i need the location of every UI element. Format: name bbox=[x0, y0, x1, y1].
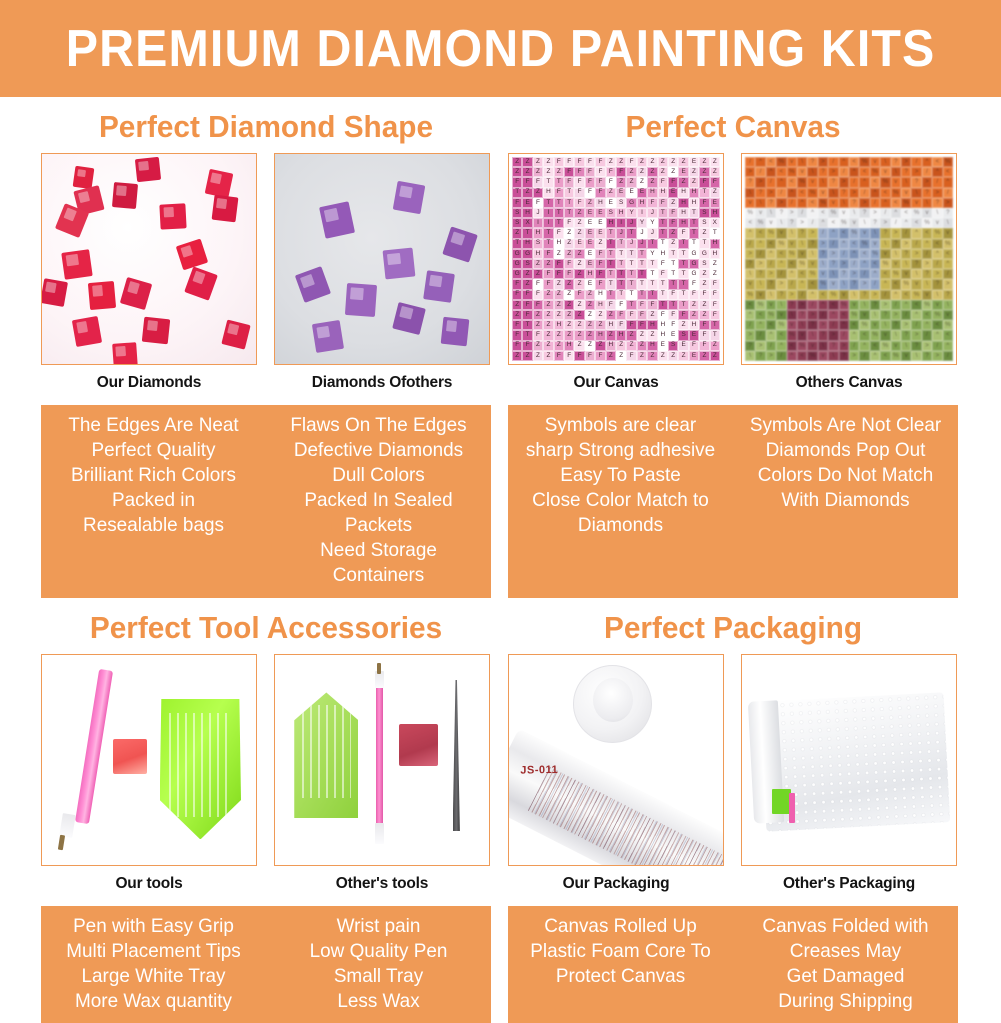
canvas-symbol-cell: J bbox=[626, 218, 636, 228]
canvas-symbol-cell: T bbox=[647, 269, 657, 279]
canvas-symbol-cell: \ bbox=[922, 279, 932, 289]
canvas-symbol-cell: ? bbox=[880, 228, 890, 238]
canvas-symbol-cell: ^ bbox=[870, 351, 880, 361]
canvas-symbol-cell: / bbox=[870, 198, 880, 208]
canvas-symbol-cell: < bbox=[797, 269, 807, 279]
canvas-symbol-cell: X bbox=[710, 218, 720, 228]
canvas-symbol-cell: < bbox=[776, 249, 786, 259]
canvas-symbol-cell: T bbox=[689, 228, 699, 238]
canvas-symbol-cell: J bbox=[626, 239, 636, 249]
canvas-symbol-cell: T bbox=[512, 239, 522, 249]
canvas-symbol-cell: F bbox=[543, 279, 553, 289]
canvas-symbol-cell: < bbox=[870, 259, 880, 269]
canvas-symbol-cell: ^ bbox=[776, 259, 786, 269]
canvas-symbol-cell: \ bbox=[776, 300, 786, 310]
canvas-symbol-cell: % bbox=[787, 249, 797, 259]
canvas-symbol-cell: > bbox=[787, 208, 797, 218]
desc-line: Creases May bbox=[739, 939, 951, 964]
canvas-symbol-cell: T bbox=[626, 249, 636, 259]
canvas-symbol-cell: T bbox=[606, 239, 616, 249]
canvas-symbol-cell: T bbox=[658, 208, 668, 218]
canvas-symbol-cell: > bbox=[839, 177, 849, 187]
desc-line: Easy To Paste bbox=[514, 463, 726, 488]
canvas-symbol-cell: H bbox=[522, 239, 532, 249]
photo-cell-others-canvas: /^<%v\?>/^<%v\?>/^<%>/^<%v\?>/^<%v\?>/^<… bbox=[741, 153, 957, 392]
canvas-symbol-cell: \ bbox=[859, 300, 869, 310]
canvas-symbol-cell: Z bbox=[585, 310, 595, 320]
canvas-symbol-cell: Z bbox=[543, 300, 553, 310]
canvas-symbol-cell: T bbox=[668, 249, 678, 259]
our-tools-image bbox=[42, 655, 256, 865]
canvas-symbol-cell: Z bbox=[585, 198, 595, 208]
canvas-symbol-cell: > bbox=[870, 208, 880, 218]
canvas-symbol-cell: F bbox=[585, 188, 595, 198]
canvas-symbol-cell: Z bbox=[585, 330, 595, 340]
canvas-symbol-cell: < bbox=[818, 290, 828, 300]
canvas-symbol-cell: T bbox=[626, 279, 636, 289]
canvas-symbol-cell: F bbox=[574, 177, 584, 187]
canvas-symbol-cell: Z bbox=[699, 279, 709, 289]
canvas-symbol-cell: ^ bbox=[880, 198, 890, 208]
canvas-symbol-cell: E bbox=[574, 239, 584, 249]
canvas-symbol-cell: > bbox=[776, 279, 786, 289]
canvas-symbol-cell: \ bbox=[891, 330, 901, 340]
canvas-symbol-cell: Z bbox=[647, 351, 657, 361]
canvas-symbol-cell: T bbox=[554, 177, 564, 187]
canvas-symbol-cell: Z bbox=[522, 157, 532, 167]
tube-end-cap-icon bbox=[573, 665, 652, 743]
canvas-symbol-cell: Z bbox=[512, 228, 522, 238]
canvas-symbol-cell: Z bbox=[574, 218, 584, 228]
canvas-symbol-cell: < bbox=[787, 177, 797, 187]
canvas-symbol-cell: T bbox=[543, 239, 553, 249]
canvas-symbol-cell: ? bbox=[807, 320, 817, 330]
canvas-symbol-cell: % bbox=[911, 208, 921, 218]
canvas-symbol-cell: % bbox=[880, 177, 890, 187]
canvas-symbol-cell: \ bbox=[818, 259, 828, 269]
canvas-symbol-cell: F bbox=[512, 320, 522, 330]
desc-col-other-packaging: Canvas Folded withCreases MayGet Damaged… bbox=[736, 914, 954, 1014]
canvas-symbol-cell: ? bbox=[818, 167, 828, 177]
canvas-symbol-cell: F bbox=[554, 228, 564, 238]
canvas-symbol-cell: \ bbox=[828, 351, 838, 361]
section-1-title-wrap: Perfect Diamond Shape bbox=[41, 97, 491, 153]
canvas-symbol-cell: F bbox=[595, 157, 605, 167]
canvas-symbol-cell: T bbox=[710, 320, 720, 330]
canvas-symbol-cell: Z bbox=[678, 177, 688, 187]
canvas-symbol-cell: \ bbox=[818, 341, 828, 351]
canvas-symbol-cell: Z bbox=[574, 259, 584, 269]
canvas-symbol-cell: ^ bbox=[870, 188, 880, 198]
canvas-symbol-cell: F bbox=[595, 188, 605, 198]
photo-cell-our-packaging: JS-011 Our Packaging bbox=[508, 654, 724, 893]
canvas-symbol-cell: S bbox=[512, 218, 522, 228]
canvas-symbol-cell: % bbox=[766, 310, 776, 320]
canvas-symbol-cell: < bbox=[901, 290, 911, 300]
canvas-symbol-cell: E bbox=[689, 157, 699, 167]
canvas-symbol-cell: Z bbox=[637, 341, 647, 351]
canvas-symbol-cell: / bbox=[839, 330, 849, 340]
canvas-symbol-cell: / bbox=[776, 351, 786, 361]
our-canvas-symbol-grid: ZZZZFFFFFZZFZZZZZEZZZZZZZFFFFFFZZZZZEZZZ… bbox=[512, 157, 720, 361]
canvas-symbol-cell: T bbox=[658, 290, 668, 300]
canvas-symbol-cell: H bbox=[678, 218, 688, 228]
canvas-symbol-cell: / bbox=[776, 269, 786, 279]
thin-pink-pen-icon bbox=[376, 684, 384, 831]
canvas-symbol-cell: ^ bbox=[849, 330, 859, 340]
desc-line: Symbols Are Not Clear bbox=[739, 413, 951, 438]
canvas-symbol-cell: < bbox=[776, 330, 786, 340]
canvas-symbol-cell: ^ bbox=[932, 167, 942, 177]
canvas-symbol-cell: F bbox=[564, 167, 574, 177]
canvas-symbol-cell: > bbox=[849, 269, 859, 279]
canvas-symbol-cell: \ bbox=[880, 320, 890, 330]
pink-pen-peek-icon bbox=[789, 793, 795, 822]
canvas-symbol-cell: > bbox=[797, 218, 807, 228]
desc-line: Plastic Foam Core To bbox=[514, 939, 726, 964]
canvas-symbol-cell: F bbox=[554, 259, 564, 269]
canvas-symbol-cell: T bbox=[522, 228, 532, 238]
canvas-symbol-cell: H bbox=[678, 208, 688, 218]
canvas-symbol-cell: < bbox=[849, 320, 859, 330]
photo-row-2: Our tools Other's bbox=[0, 654, 1001, 893]
canvas-symbol-cell: > bbox=[922, 177, 932, 187]
canvas-symbol-cell: v bbox=[870, 239, 880, 249]
canvas-symbol-cell: ^ bbox=[787, 351, 797, 361]
canvas-symbol-cell: T bbox=[637, 259, 647, 269]
canvas-symbol-cell: > bbox=[755, 177, 765, 187]
canvas-symbol-cell: v bbox=[818, 351, 828, 361]
photo-cell-our-canvas: ZZZZFFFFFZZFZZZZZEZZZZZZZFFFFFFZZZZZEZZZ… bbox=[508, 153, 724, 392]
canvas-symbol-cell: v bbox=[766, 218, 776, 228]
canvas-symbol-cell: > bbox=[766, 188, 776, 198]
canvas-symbol-cell: F bbox=[564, 177, 574, 187]
canvas-symbol-cell: < bbox=[766, 157, 776, 167]
canvas-symbol-cell: % bbox=[755, 218, 765, 228]
desc-col-other-tools: Wrist painLow Quality PenSmall TrayLess … bbox=[269, 914, 487, 1014]
image-other-diamonds bbox=[274, 153, 490, 365]
canvas-symbol-cell: Z bbox=[606, 310, 616, 320]
pink-drill-pen-icon bbox=[75, 669, 113, 825]
canvas-symbol-cell: F bbox=[585, 167, 595, 177]
canvas-symbol-cell: F bbox=[512, 290, 522, 300]
photo-cell-other-diamonds: Diamonds Ofothers bbox=[274, 153, 490, 392]
canvas-symbol-cell: ^ bbox=[859, 341, 869, 351]
canvas-symbol-cell: ^ bbox=[943, 259, 953, 269]
canvas-symbol-cell: Z bbox=[699, 167, 709, 177]
canvas-symbol-cell: F bbox=[710, 290, 720, 300]
caption-other-packaging: Other's Packaging bbox=[741, 866, 957, 893]
desc-line: Pen with Easy Grip bbox=[47, 914, 259, 939]
canvas-symbol-cell: H bbox=[606, 341, 616, 351]
canvas-symbol-cell: > bbox=[818, 239, 828, 249]
canvas-symbol-cell: v bbox=[787, 157, 797, 167]
canvas-symbol-cell: / bbox=[755, 167, 765, 177]
canvas-symbol-cell: / bbox=[766, 259, 776, 269]
canvas-symbol-cell: T bbox=[564, 208, 574, 218]
canvas-symbol-cell: > bbox=[776, 198, 786, 208]
canvas-symbol-cell: Z bbox=[616, 177, 626, 187]
canvas-symbol-cell: < bbox=[797, 351, 807, 361]
canvas-symbol-cell: Z bbox=[564, 279, 574, 289]
canvas-symbol-cell: > bbox=[745, 249, 755, 259]
canvas-symbol-cell: F bbox=[574, 188, 584, 198]
canvas-symbol-cell: E bbox=[585, 259, 595, 269]
canvas-symbol-cell: Z bbox=[564, 239, 574, 249]
canvas-symbol-cell: / bbox=[755, 330, 765, 340]
canvas-symbol-cell: T bbox=[554, 208, 564, 218]
photo-cell-other-packaging: Other's Packaging bbox=[741, 654, 957, 893]
canvas-symbol-cell: J bbox=[637, 239, 647, 249]
desc-col-our-packaging: Canvas Rolled UpPlastic Foam Core ToProt… bbox=[511, 914, 729, 1014]
canvas-symbol-cell: \ bbox=[755, 279, 765, 289]
canvas-symbol-cell: Z bbox=[616, 157, 626, 167]
canvas-symbol-cell: F bbox=[512, 341, 522, 351]
section-title-row-2: Perfect Tool Accessories Perfect Packagi… bbox=[0, 598, 1001, 654]
canvas-symbol-cell: v bbox=[766, 300, 776, 310]
canvas-symbol-cell: > bbox=[932, 188, 942, 198]
canvas-symbol-cell: \ bbox=[745, 351, 755, 361]
canvas-symbol-cell: Z bbox=[710, 167, 720, 177]
canvas-symbol-cell: Z bbox=[533, 341, 543, 351]
canvas-symbol-cell: Z bbox=[637, 351, 647, 361]
canvas-symbol-cell: v bbox=[755, 290, 765, 300]
canvas-symbol-cell: < bbox=[745, 218, 755, 228]
canvas-symbol-cell: < bbox=[943, 167, 953, 177]
canvas-symbol-cell: Z bbox=[522, 269, 532, 279]
other-packaging-image bbox=[742, 655, 956, 865]
canvas-symbol-cell: Z bbox=[574, 249, 584, 259]
canvas-symbol-cell: % bbox=[870, 167, 880, 177]
canvas-symbol-cell: v bbox=[807, 177, 817, 187]
canvas-symbol-cell: < bbox=[818, 208, 828, 218]
description-row-1: The Edges Are NeatPerfect QualityBrillia… bbox=[0, 392, 1001, 598]
desc-line: Wrist pain bbox=[272, 914, 484, 939]
canvas-symbol-cell: % bbox=[745, 208, 755, 218]
canvas-symbol-cell: Z bbox=[699, 310, 709, 320]
canvas-symbol-cell: < bbox=[839, 310, 849, 320]
canvas-symbol-cell: v bbox=[859, 228, 869, 238]
canvas-symbol-cell: Z bbox=[554, 279, 564, 289]
canvas-symbol-cell: H bbox=[616, 208, 626, 218]
canvas-symbol-cell: Z bbox=[574, 279, 584, 289]
canvas-symbol-cell: F bbox=[533, 279, 543, 289]
canvas-symbol-cell: > bbox=[901, 239, 911, 249]
canvas-symbol-cell: \ bbox=[901, 177, 911, 187]
canvas-symbol-cell: Z bbox=[554, 300, 564, 310]
canvas-symbol-cell: Z bbox=[533, 157, 543, 167]
desc-col-other-diamonds: Flaws On The EdgesDefective DiamondsDull… bbox=[269, 413, 487, 588]
canvas-symbol-cell: % bbox=[766, 228, 776, 238]
canvas-symbol-cell: F bbox=[678, 310, 688, 320]
canvas-symbol-cell: > bbox=[828, 249, 838, 259]
canvas-symbol-cell: Z bbox=[543, 167, 553, 177]
canvas-symbol-cell: > bbox=[849, 188, 859, 198]
section-title-row-1: Perfect Diamond Shape Perfect Canvas bbox=[0, 97, 1001, 153]
desc-line: sharp Strong adhesive bbox=[514, 438, 726, 463]
canvas-symbol-cell: ? bbox=[787, 300, 797, 310]
canvas-symbol-cell: T bbox=[678, 259, 688, 269]
canvas-symbol-cell: T bbox=[554, 198, 564, 208]
canvas-symbol-cell: F bbox=[658, 198, 668, 208]
canvas-symbol-cell: F bbox=[554, 157, 564, 167]
canvas-symbol-cell: v bbox=[755, 208, 765, 218]
canvas-symbol-cell: v bbox=[880, 167, 890, 177]
canvas-symbol-cell: < bbox=[849, 239, 859, 249]
canvas-symbol-cell: / bbox=[755, 249, 765, 259]
canvas-symbol-cell: F bbox=[606, 300, 616, 310]
canvas-symbol-cell: ? bbox=[766, 279, 776, 289]
canvas-symbol-cell: X bbox=[522, 218, 532, 228]
canvas-symbol-cell: > bbox=[880, 218, 890, 228]
canvas-symbol-cell: Z bbox=[574, 269, 584, 279]
canvas-symbol-cell: Z bbox=[647, 310, 657, 320]
canvas-symbol-cell: / bbox=[745, 239, 755, 249]
canvas-symbol-cell: T bbox=[689, 208, 699, 218]
other-tools-image bbox=[275, 655, 489, 865]
canvas-symbol-cell: > bbox=[766, 351, 776, 361]
pen-needle-icon bbox=[58, 835, 65, 850]
canvas-symbol-cell: F bbox=[637, 310, 647, 320]
canvas-symbol-cell: / bbox=[932, 259, 942, 269]
desc-line: Large White Tray bbox=[47, 964, 259, 989]
canvas-symbol-cell: F bbox=[574, 290, 584, 300]
canvas-symbol-cell: ? bbox=[745, 341, 755, 351]
canvas-symbol-cell: Z bbox=[533, 310, 543, 320]
description-row-2: Pen with Easy GripMulti Placement TipsLa… bbox=[0, 893, 1001, 1023]
canvas-symbol-cell: / bbox=[859, 351, 869, 361]
desc-col-our-canvas: Symbols are clearsharp Strong adhesiveEa… bbox=[511, 413, 729, 588]
canvas-symbol-cell: v bbox=[891, 177, 901, 187]
small-green-tray-icon bbox=[294, 692, 358, 818]
canvas-symbol-cell: v bbox=[849, 218, 859, 228]
canvas-symbol-cell: F bbox=[564, 259, 574, 269]
canvas-symbol-cell: \ bbox=[911, 188, 921, 198]
canvas-symbol-cell: Y bbox=[626, 208, 636, 218]
canvas-symbol-cell: > bbox=[922, 259, 932, 269]
canvas-symbol-cell: Z bbox=[543, 310, 553, 320]
poster-tube-icon: JS-011 bbox=[508, 729, 724, 866]
section-4-photos: JS-011 Our Packaging bbox=[508, 654, 958, 893]
section-2-title-wrap: Perfect Canvas bbox=[508, 97, 958, 153]
canvas-symbol-cell: / bbox=[932, 341, 942, 351]
canvas-symbol-cell: \ bbox=[891, 249, 901, 259]
canvas-symbol-cell: T bbox=[710, 330, 720, 340]
canvas-symbol-cell: < bbox=[911, 218, 921, 228]
canvas-symbol-cell: F bbox=[710, 177, 720, 187]
desc-line: Brilliant Rich Colors bbox=[47, 463, 259, 488]
canvas-symbol-cell: F bbox=[626, 157, 636, 167]
canvas-symbol-cell: F bbox=[710, 279, 720, 289]
canvas-symbol-cell: F bbox=[574, 157, 584, 167]
canvas-symbol-cell: Z bbox=[512, 351, 522, 361]
canvas-symbol-cell: < bbox=[932, 157, 942, 167]
canvas-symbol-cell: Z bbox=[554, 167, 564, 177]
canvas-symbol-cell: ^ bbox=[839, 157, 849, 167]
canvas-symbol-cell: < bbox=[766, 239, 776, 249]
canvas-symbol-cell: H bbox=[658, 188, 668, 198]
canvas-symbol-cell: > bbox=[870, 290, 880, 300]
canvas-symbol-cell: T bbox=[606, 249, 616, 259]
canvas-symbol-cell: Z bbox=[710, 341, 720, 351]
canvas-symbol-cell: ? bbox=[839, 269, 849, 279]
other-pen-needle-icon bbox=[377, 663, 381, 674]
canvas-symbol-cell: F bbox=[595, 167, 605, 177]
canvas-symbol-cell: T bbox=[543, 177, 553, 187]
canvas-symbol-cell: \ bbox=[828, 269, 838, 279]
canvas-symbol-cell: H bbox=[616, 330, 626, 340]
canvas-symbol-cell: \ bbox=[745, 269, 755, 279]
canvas-symbol-cell: I bbox=[616, 218, 626, 228]
canvas-symbol-cell: T bbox=[647, 290, 657, 300]
canvas-symbol-cell: Z bbox=[533, 259, 543, 269]
canvas-symbol-cell: > bbox=[880, 300, 890, 310]
canvas-symbol-cell: % bbox=[901, 279, 911, 289]
canvas-symbol-cell: F bbox=[668, 208, 678, 218]
canvas-symbol-cell: ? bbox=[807, 157, 817, 167]
desc-line: Diamonds bbox=[514, 513, 726, 538]
canvas-symbol-cell: % bbox=[911, 290, 921, 300]
canvas-symbol-cell: Z bbox=[616, 341, 626, 351]
canvas-symbol-cell: v bbox=[849, 300, 859, 310]
canvas-symbol-cell: E bbox=[678, 167, 688, 177]
canvas-symbol-cell: F bbox=[595, 259, 605, 269]
canvas-symbol-cell: ^ bbox=[807, 208, 817, 218]
canvas-symbol-cell: > bbox=[766, 269, 776, 279]
canvas-symbol-cell: Z bbox=[710, 188, 720, 198]
canvas-symbol-cell: Z bbox=[689, 310, 699, 320]
desc-line: The Edges Are Neat bbox=[47, 413, 259, 438]
canvas-symbol-cell: ? bbox=[870, 300, 880, 310]
canvas-symbol-cell: \ bbox=[745, 188, 755, 198]
canvas-symbol-cell: ^ bbox=[828, 228, 838, 238]
canvas-symbol-cell: T bbox=[626, 290, 636, 300]
canvas-symbol-cell: ^ bbox=[755, 239, 765, 249]
canvas-symbol-cell: Z bbox=[574, 228, 584, 238]
image-other-tools bbox=[274, 654, 490, 866]
canvas-symbol-cell: Z bbox=[658, 157, 668, 167]
desc-line: Get Damaged bbox=[739, 964, 951, 989]
canvas-symbol-cell: ^ bbox=[766, 249, 776, 259]
canvas-symbol-cell: ? bbox=[932, 198, 942, 208]
canvas-symbol-cell: ^ bbox=[828, 310, 838, 320]
canvas-symbol-cell: % bbox=[870, 249, 880, 259]
canvas-symbol-cell: S bbox=[512, 208, 522, 218]
canvas-symbol-cell: / bbox=[797, 290, 807, 300]
canvas-symbol-cell: S bbox=[678, 330, 688, 340]
canvas-symbol-cell: \ bbox=[870, 228, 880, 238]
canvas-symbol-cell: Z bbox=[689, 177, 699, 187]
canvas-symbol-cell: F bbox=[585, 351, 595, 361]
canvas-symbol-cell: Z bbox=[668, 167, 678, 177]
canvas-symbol-cell: S bbox=[616, 198, 626, 208]
canvas-symbol-cell: ? bbox=[797, 310, 807, 320]
canvas-symbol-cell: F bbox=[668, 177, 678, 187]
canvas-symbol-cell: Z bbox=[595, 341, 605, 351]
canvas-symbol-cell: ? bbox=[922, 351, 932, 361]
canvas-symbol-cell: ? bbox=[911, 259, 921, 269]
canvas-symbol-cell: Z bbox=[710, 269, 720, 279]
section-2-photos: ZZZZFFFFFZZFZZZZZEZZZZZZZFFFFFFZZZZZEZZZ… bbox=[508, 153, 958, 392]
canvas-symbol-cell: F bbox=[710, 300, 720, 310]
canvas-symbol-cell: v bbox=[859, 310, 869, 320]
desc-line: Flaws On The Edges bbox=[272, 413, 484, 438]
description-box-canvas: Symbols are clearsharp Strong adhesiveEa… bbox=[508, 405, 958, 598]
canvas-symbol-cell: Y bbox=[647, 249, 657, 259]
canvas-symbol-cell: \ bbox=[797, 239, 807, 249]
canvas-symbol-cell: ^ bbox=[891, 290, 901, 300]
canvas-symbol-cell: < bbox=[932, 320, 942, 330]
